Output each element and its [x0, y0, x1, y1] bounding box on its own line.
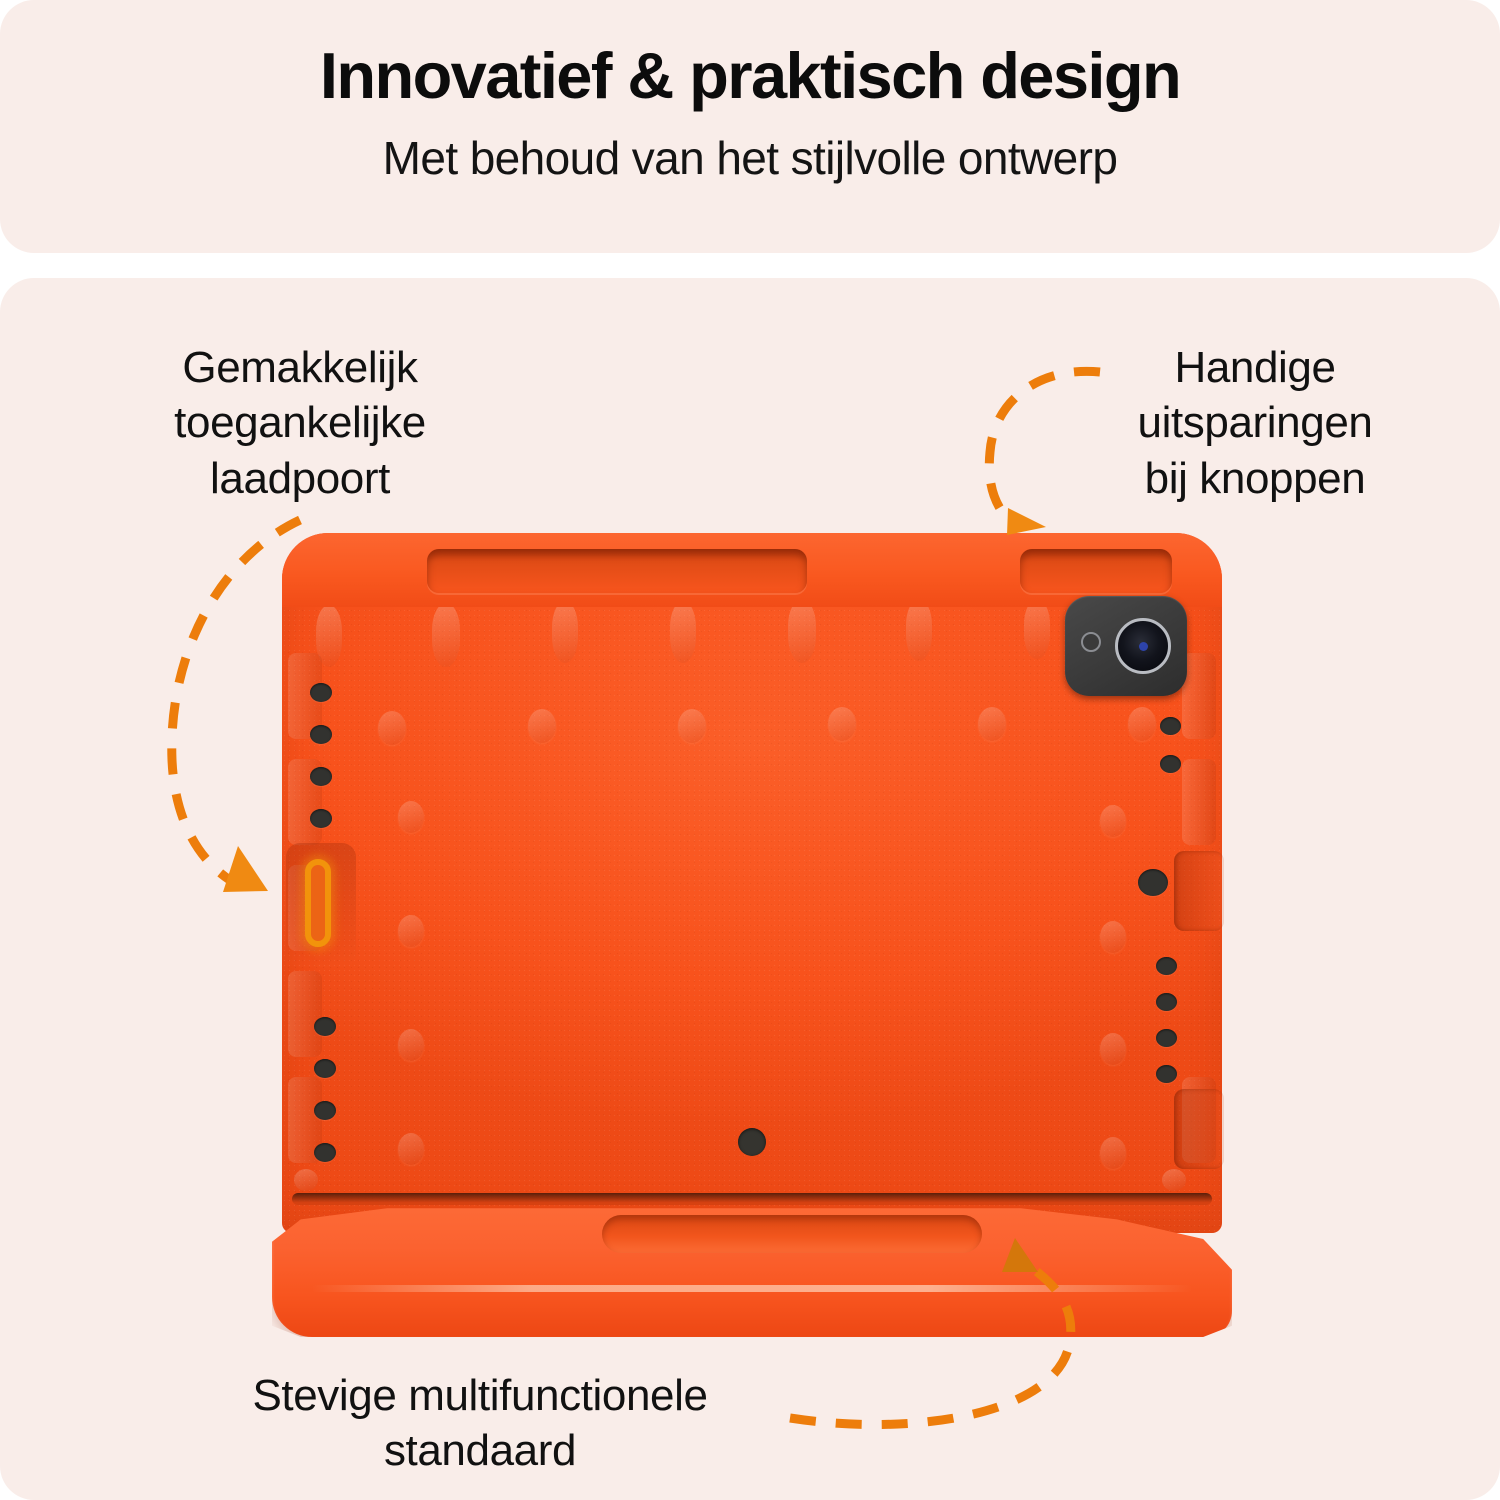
- button-cutout-right-lower: [1174, 1089, 1224, 1169]
- dimple: [788, 599, 816, 663]
- speaker-hole: [314, 1017, 336, 1036]
- dimple: [906, 599, 932, 661]
- dimple: [378, 711, 406, 745]
- speaker-hole: [1156, 1065, 1177, 1083]
- dimple: [1100, 805, 1126, 837]
- header-panel: Innovatief & praktisch design Met behoud…: [0, 0, 1500, 253]
- speaker-hole: [1160, 755, 1181, 773]
- button-cutout-top-right: [1020, 549, 1172, 593]
- dimple: [670, 601, 696, 663]
- speaker-hole: [1156, 957, 1177, 975]
- camera-flash-icon: [1081, 632, 1101, 652]
- dimple: [528, 709, 556, 743]
- speaker-hole: [310, 767, 332, 786]
- tablet-case-illustration: [272, 533, 1232, 1333]
- speaker-hole: [314, 1143, 336, 1162]
- side-bumper: [1182, 653, 1216, 739]
- speaker-hole: [314, 1059, 336, 1078]
- power-button: [1138, 869, 1168, 896]
- page-title: Innovatief & praktisch design: [0, 42, 1500, 111]
- microphone-hole: [738, 1128, 766, 1156]
- speaker-hole: [310, 683, 332, 702]
- speaker-hole: [1156, 993, 1177, 1011]
- speaker-hole: [310, 725, 332, 744]
- callout-button-cutouts-label: Handige uitsparingen bij knoppen: [1060, 340, 1450, 506]
- stand-top-edge: [292, 1193, 1212, 1205]
- dimple: [1128, 707, 1156, 741]
- dimple: [1100, 1137, 1126, 1169]
- stand-handle-slot: [602, 1215, 982, 1253]
- dimple: [828, 707, 856, 741]
- dimple: [1100, 1033, 1126, 1065]
- dimple: [978, 707, 1006, 741]
- camera-module: [1065, 596, 1187, 696]
- callout-stand-label: Stevige multifunctionele standaard: [120, 1368, 840, 1479]
- dimple: [1024, 599, 1050, 659]
- page-subtitle: Met behoud van het stijlvolle ontwerp: [0, 133, 1500, 184]
- camera-lens-glint: [1139, 642, 1148, 651]
- charging-port-cutout: [305, 859, 331, 947]
- dimple: [678, 709, 706, 743]
- dimple: [432, 603, 460, 667]
- stand-sheen: [312, 1285, 1192, 1292]
- stand-nub-left: [294, 1169, 318, 1191]
- speaker-hole: [1156, 1029, 1177, 1047]
- dimple: [398, 1029, 424, 1061]
- dimple: [1100, 921, 1126, 953]
- side-bumper: [1182, 759, 1216, 845]
- dimple: [398, 801, 424, 833]
- speaker-hole: [310, 809, 332, 828]
- infographic-stage: Innovatief & praktisch design Met behoud…: [0, 0, 1500, 1500]
- case-top-rim: [282, 533, 1222, 607]
- top-cutout-long: [427, 549, 807, 593]
- button-cutout-right-upper: [1174, 851, 1224, 931]
- dimple: [552, 601, 578, 663]
- speaker-hole: [314, 1101, 336, 1120]
- stand-nub-right: [1162, 1169, 1186, 1191]
- dimple: [398, 915, 424, 947]
- speaker-hole: [1160, 717, 1181, 735]
- side-bumper: [288, 971, 322, 1057]
- callout-charging-port-label: Gemakkelijk toegankelijke laadpoort: [80, 340, 520, 506]
- dimple: [398, 1133, 424, 1165]
